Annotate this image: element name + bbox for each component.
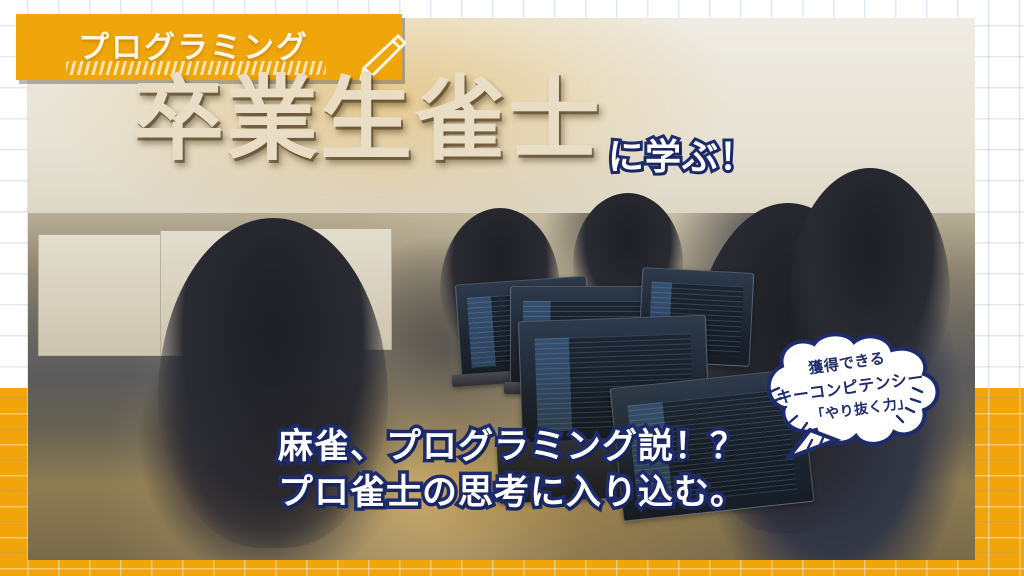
thumbnail-canvas: プログラミング 卒業生雀士 に学ぶ！ 麻雀、プログラミング説！？ プロ雀士の思考… [0, 0, 1024, 576]
bubble-cloud-shape [748, 330, 952, 460]
page-title: 卒業生雀士 [132, 74, 602, 166]
key-competency-bubble: 獲得できる キーコンピテンシー 「やり抜く力」 [748, 330, 952, 460]
page-title-suffix: に学ぶ！ [608, 128, 756, 180]
banner-label: プログラミング [78, 22, 309, 67]
